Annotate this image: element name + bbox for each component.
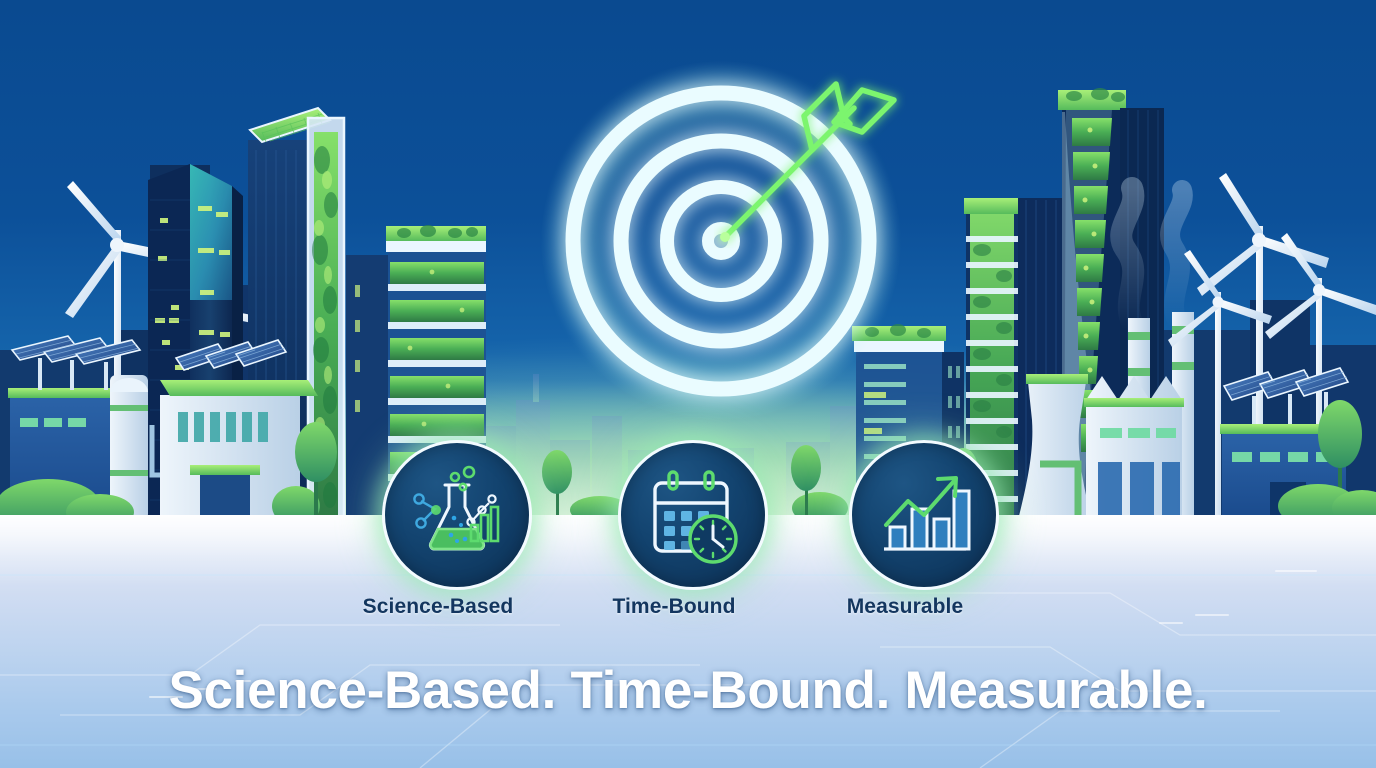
- badge-measurable[interactable]: Measurable: [849, 440, 999, 590]
- flask-molecule-chart-icon: [405, 463, 509, 567]
- badge-science-based[interactable]: Science-Based: [382, 440, 532, 590]
- badge-label-science-based: Science-Based: [328, 595, 548, 619]
- headline: Science-Based. Time-Bound. Measurable.: [0, 660, 1376, 721]
- bar-chart-growth-arrow-icon: [872, 463, 976, 567]
- hero-illustration: Science-Based: [0, 0, 1376, 768]
- badge-label-time-bound: Time-Bound: [564, 595, 784, 619]
- feature-badges: Science-Based: [0, 440, 1376, 640]
- target-bullseye-with-arrow-icon: [536, 56, 906, 426]
- badge-time-bound[interactable]: Time-Bound: [618, 440, 768, 590]
- badge-label-measurable: Measurable: [795, 595, 1015, 619]
- calendar-clock-icon: [641, 463, 745, 567]
